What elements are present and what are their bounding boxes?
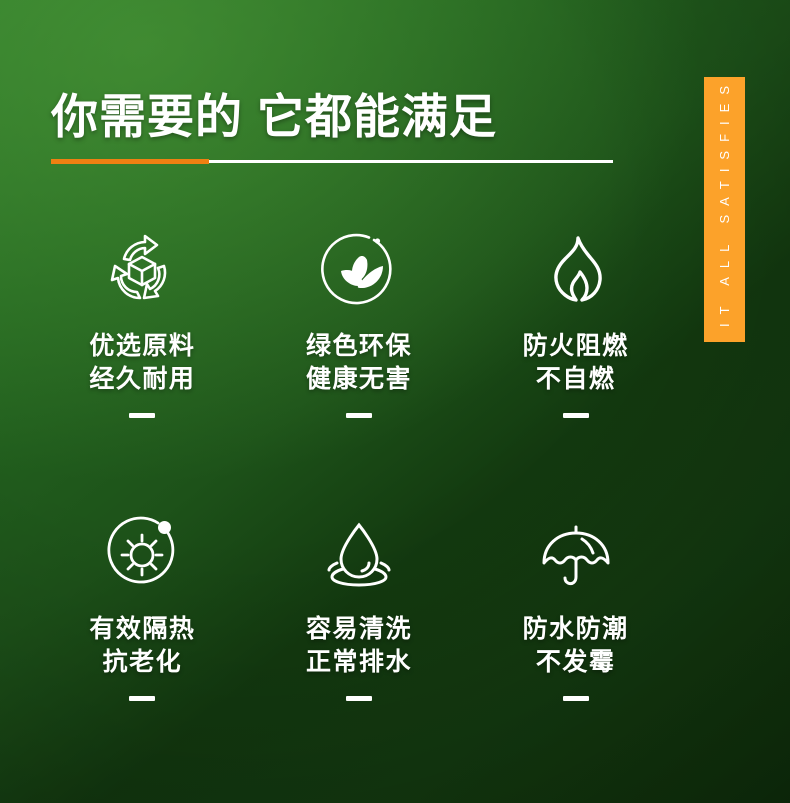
side-vertical-text: IT ALL SATISFIES xyxy=(704,77,745,577)
feature-grid: 优选原料 经久耐用 绿色环保 健康无害 xyxy=(34,228,684,701)
feature-item: 绿色环保 健康无害 xyxy=(259,228,459,511)
feature-item: 防水防潮 不发霉 xyxy=(476,511,676,701)
eco-leaves-icon xyxy=(317,228,401,312)
feature-label: 防水防潮 不发霉 xyxy=(523,613,629,679)
feature-dash xyxy=(346,696,372,701)
feature-item: 容易清洗 正常排水 xyxy=(259,511,459,701)
title-underline-white-segment xyxy=(209,160,613,163)
flame-icon xyxy=(534,228,618,312)
sun-insulation-icon xyxy=(100,511,184,595)
feature-label: 有效隔热 抗老化 xyxy=(89,613,195,679)
umbrella-icon xyxy=(534,511,618,595)
feature-dash xyxy=(129,413,155,418)
feature-dash xyxy=(129,696,155,701)
feature-dash xyxy=(346,413,372,418)
feature-item: 防火阻燃 不自燃 xyxy=(476,228,676,511)
promo-banner: 你需要的 它都能满足 IT ALL SATISFIES 优选原料 经久耐用 xyxy=(0,0,790,803)
feature-label: 防火阻燃 不自燃 xyxy=(523,330,629,396)
side-vertical-text-label: IT ALL SATISFIES xyxy=(717,77,732,545)
title-block: 你需要的 它都能满足 xyxy=(51,93,671,142)
feature-label: 绿色环保 健康无害 xyxy=(306,330,412,396)
title-underline-orange-segment xyxy=(51,159,209,164)
page-title: 你需要的 它都能满足 xyxy=(51,93,671,142)
feature-dash xyxy=(563,696,589,701)
feature-item: 优选原料 经久耐用 xyxy=(42,228,242,511)
water-drop-icon xyxy=(317,511,401,595)
title-underline xyxy=(51,159,613,164)
feature-item: 有效隔热 抗老化 xyxy=(42,511,242,701)
feature-dash xyxy=(563,413,589,418)
recycle-box-icon xyxy=(100,228,184,312)
feature-label: 优选原料 经久耐用 xyxy=(89,330,195,396)
feature-label: 容易清洗 正常排水 xyxy=(306,613,412,679)
